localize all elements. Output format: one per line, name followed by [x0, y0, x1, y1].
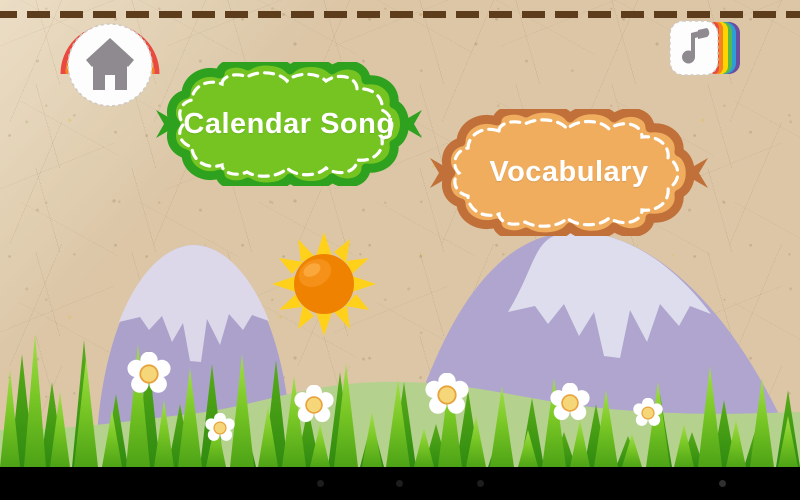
home-button[interactable]	[60, 12, 160, 110]
flower	[633, 398, 663, 428]
flower	[550, 383, 590, 423]
flower	[425, 373, 469, 417]
calendar-song-button[interactable]: Calendar Song	[150, 62, 428, 186]
flower	[294, 385, 334, 425]
nav-home-button[interactable]	[396, 480, 403, 487]
nav-recents-button[interactable]	[477, 480, 484, 487]
flower	[205, 413, 235, 443]
music-button[interactable]	[668, 19, 740, 81]
android-navigation-bar	[0, 467, 800, 500]
vocabulary-button[interactable]: Vocabulary	[424, 109, 714, 236]
grass	[0, 320, 800, 467]
nav-back-button[interactable]	[317, 480, 324, 487]
nav-menu-button[interactable]	[719, 480, 726, 487]
flower	[127, 352, 171, 396]
app-window: Calendar Song Vocabulary	[0, 0, 800, 500]
